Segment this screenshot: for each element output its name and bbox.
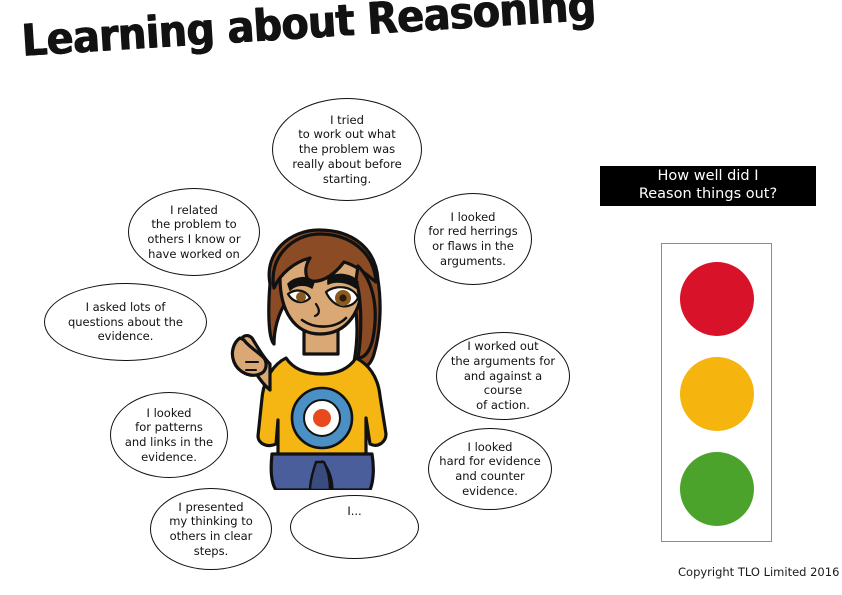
bubble-patterns-links[interactable]: I lookedfor patternsand links in theevid…: [110, 392, 228, 478]
bubble-red-herrings-text: I lookedfor red herringsor flaws in thea…: [423, 210, 523, 269]
iris-left: [296, 292, 306, 302]
green-light[interactable]: [680, 452, 754, 526]
bubble-presented-thinking-text: I presentedmy thinking toothers in clear…: [159, 500, 263, 559]
bubble-evidence-counter-evidence[interactable]: I lookedhard for evidenceand counterevid…: [428, 428, 552, 510]
bubble-arguments-for-against-text: I worked outthe arguments forand against…: [445, 339, 561, 413]
cartoon-student-pointing-illustration: [212, 222, 427, 490]
bubble-presented-thinking[interactable]: I presentedmy thinking toothers in clear…: [150, 488, 272, 570]
banner-line-2: Reason things out?: [639, 186, 777, 204]
traffic-light-panel: [661, 243, 772, 542]
bubble-work-out-problem[interactable]: I triedto work out whatthe problem wasre…: [272, 98, 422, 201]
copyright-notice: Copyright TLO Limited 2016: [678, 565, 839, 579]
bubble-blank-text: I...: [299, 504, 410, 519]
bubble-related-problem[interactable]: I relatedthe problem toothers I know orh…: [128, 188, 260, 276]
bubble-red-herrings[interactable]: I lookedfor red herringsor flaws in thea…: [414, 193, 532, 285]
red-light[interactable]: [680, 262, 754, 336]
page-title: Learning about Reasoning: [20, 0, 597, 67]
roundel-center: [313, 409, 331, 427]
bubble-work-out-problem-text: I triedto work out whatthe problem wasre…: [281, 113, 413, 187]
bubble-blank[interactable]: I...: [290, 495, 419, 559]
amber-light[interactable]: [680, 357, 754, 431]
bubble-arguments-for-against[interactable]: I worked outthe arguments forand against…: [436, 332, 570, 420]
pupil-right: [339, 294, 346, 301]
banner-line-1: How well did I: [657, 168, 758, 186]
reason-banner: How well did I Reason things out?: [600, 166, 816, 206]
bubble-asked-questions-text: I asked lots ofquestions about theeviden…: [53, 300, 198, 344]
poster-canvas: Learning about Reasoning: [0, 0, 842, 595]
bubble-evidence-counter-evidence-text: I lookedhard for evidenceand counterevid…: [437, 440, 543, 499]
bubble-patterns-links-text: I lookedfor patternsand links in theevid…: [119, 406, 219, 465]
bubble-related-problem-text: I relatedthe problem toothers I know orh…: [137, 203, 251, 262]
bubble-asked-questions[interactable]: I asked lots ofquestions about theeviden…: [44, 283, 207, 361]
